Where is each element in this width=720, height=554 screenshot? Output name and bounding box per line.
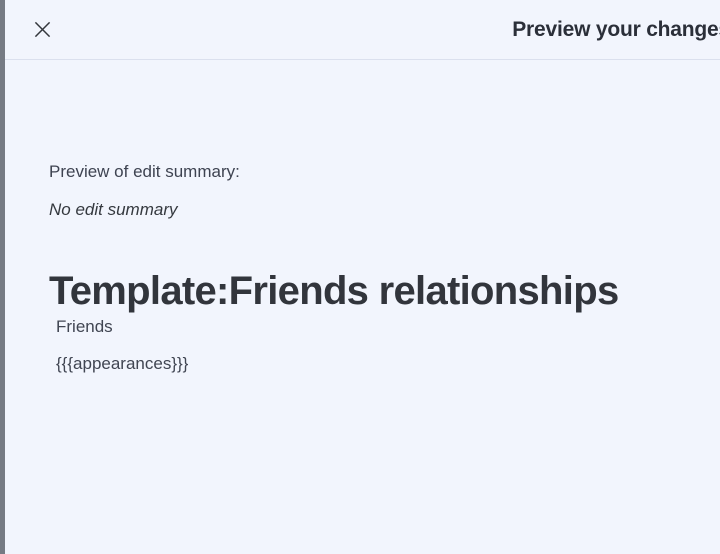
- close-button[interactable]: [26, 14, 58, 46]
- dialog-body: Preview of edit summary: No edit summary…: [5, 60, 720, 553]
- preview-changes-dialog: Preview your changes Preview of edit sum…: [0, 0, 720, 554]
- edit-summary-value: No edit summary: [49, 200, 177, 220]
- dialog-header: Preview your changes: [5, 0, 720, 60]
- close-icon: [34, 21, 51, 38]
- preview-content-line: {{{appearances}}}: [56, 354, 188, 374]
- page-title: Template:Friends relationships: [49, 268, 619, 314]
- edit-summary-label: Preview of edit summary:: [49, 162, 240, 182]
- preview-content-line: Friends: [56, 317, 113, 337]
- dialog-title: Preview your changes: [305, 18, 720, 42]
